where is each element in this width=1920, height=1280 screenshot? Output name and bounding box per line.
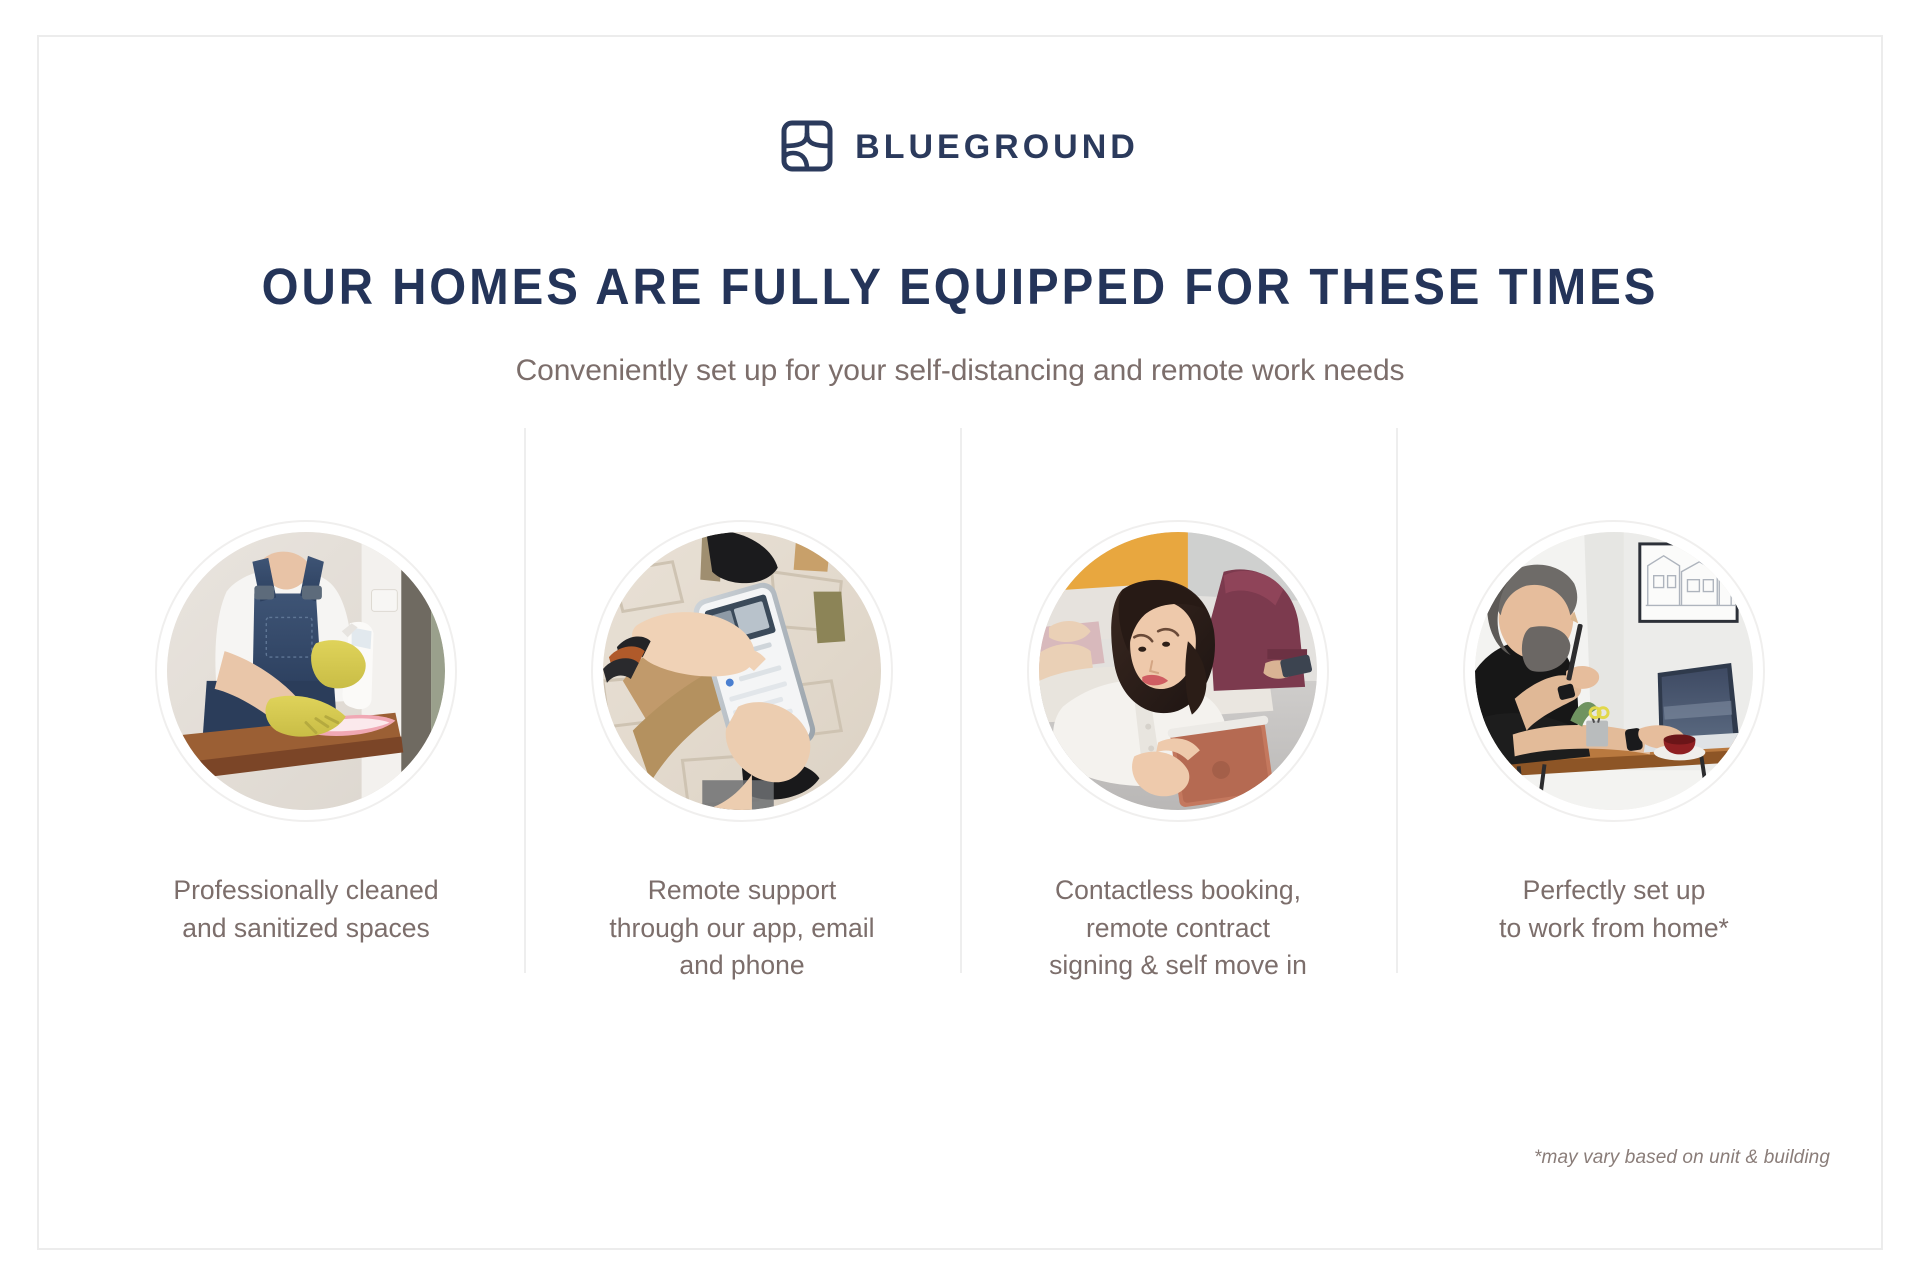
feature-column-1: Professionally cleaned and sanitized spa… [88,520,524,947]
feature-caption-2: Remote support through our app, email an… [609,872,874,985]
page-subtitle: Conveniently set up for your self-distan… [0,354,1920,388]
man-laptop-desk-photo [1475,532,1753,810]
feature-image-ring-3 [1027,520,1329,822]
feature-caption-3: Contactless booking, remote contract sig… [1049,872,1307,985]
woman-tablet-bed-photo [1039,532,1317,810]
feature-image-ring-2 [591,520,893,822]
feature-columns: Professionally cleaned and sanitized spa… [88,520,1832,985]
phone-in-hands-photo [603,532,881,810]
feature-caption-1: Professionally cleaned and sanitized spa… [173,872,438,947]
infographic-page: BLUEGROUND OUR HOMES ARE FULLY EQUIPPED … [0,0,1920,1280]
feature-image-ring-1 [155,520,457,822]
feature-image-ring-4 [1463,520,1765,822]
feature-column-2: Remote support through our app, email an… [524,520,960,985]
feature-column-3: Contactless booking, remote contract sig… [960,520,1396,985]
page-title: OUR HOMES ARE FULLY EQUIPPED FOR THESE T… [67,257,1853,316]
blueground-square-icon [781,120,833,172]
feature-column-4: Perfectly set up to work from home* [1396,520,1832,947]
feature-caption-4: Perfectly set up to work from home* [1499,872,1729,947]
cleaning-woman-photo [167,532,445,810]
footnote-text: *may vary based on unit & building [1534,1147,1830,1169]
brand-wordmark: BLUEGROUND [855,128,1139,164]
brand-logo: BLUEGROUND [0,120,1920,172]
